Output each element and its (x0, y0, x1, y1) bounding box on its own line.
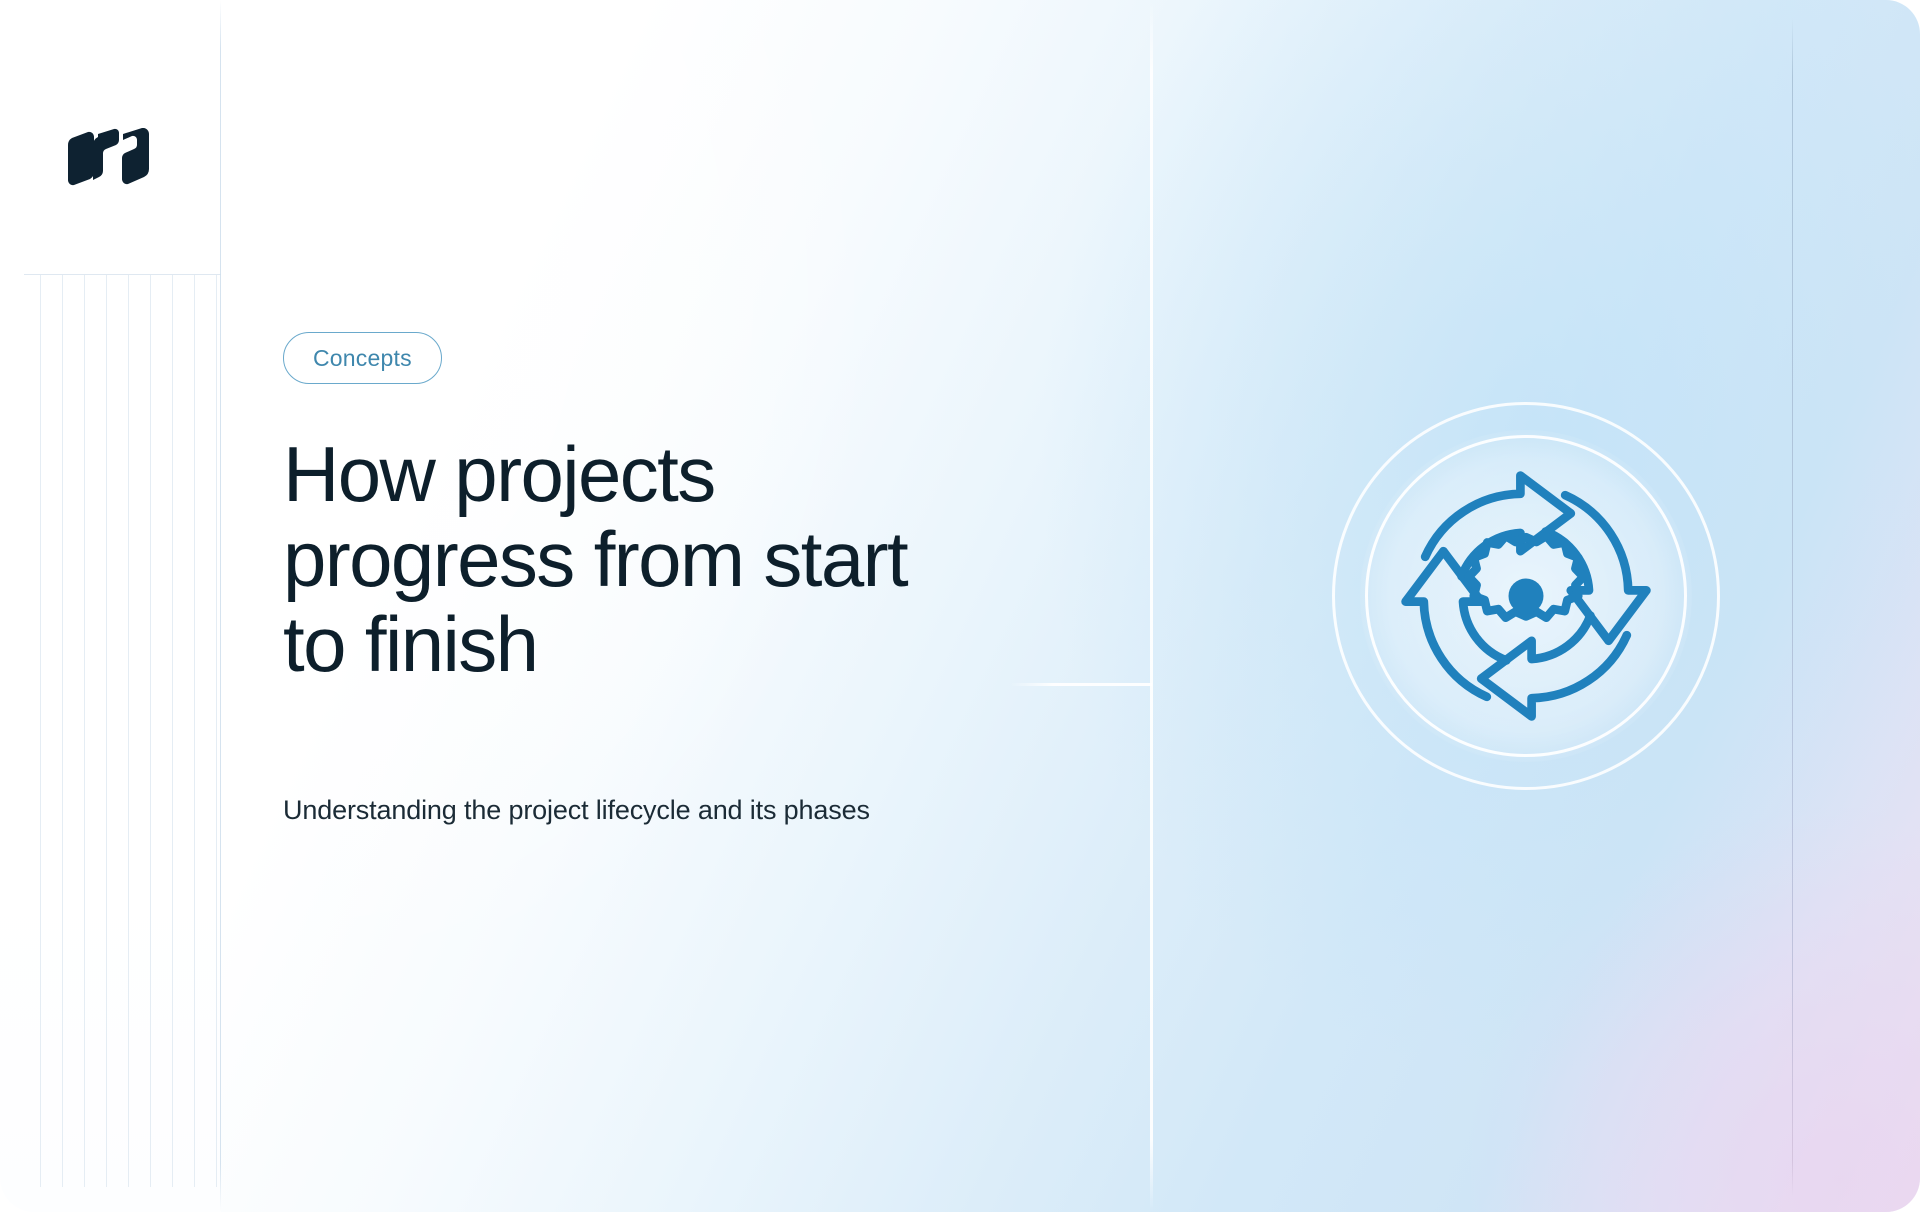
panel-seam-vertical-center (1150, 0, 1153, 1212)
rail-hairline (216, 275, 217, 1187)
panel-seam-horizontal (1010, 683, 1152, 686)
rail-hairline (40, 275, 41, 1187)
rail-hairline (194, 275, 195, 1187)
brand-logo-icon[interactable] (62, 128, 170, 188)
rail-hairline (62, 275, 63, 1187)
slide-card: Concepts How projects progress from star… (0, 0, 1920, 1212)
page-subtitle: Understanding the project lifecycle and … (283, 790, 923, 831)
rail-hairline (84, 275, 85, 1187)
rail-hairline (128, 275, 129, 1187)
rail-hairline (150, 275, 151, 1187)
process-cycle-icon (1386, 456, 1666, 736)
rail-hairline-pattern (24, 275, 221, 1187)
rail-hairline (106, 275, 107, 1187)
gear-center-dot (1509, 579, 1544, 614)
slide-content: Concepts How projects progress from star… (283, 0, 983, 1212)
page-title: How projects progress from start to fini… (283, 432, 963, 687)
rail-vertical-divider (220, 0, 221, 1212)
illustration-container (1330, 400, 1722, 792)
category-badge[interactable]: Concepts (283, 332, 442, 384)
panel-seam-vertical-right (1792, 18, 1793, 1196)
rail-hairline (172, 275, 173, 1187)
